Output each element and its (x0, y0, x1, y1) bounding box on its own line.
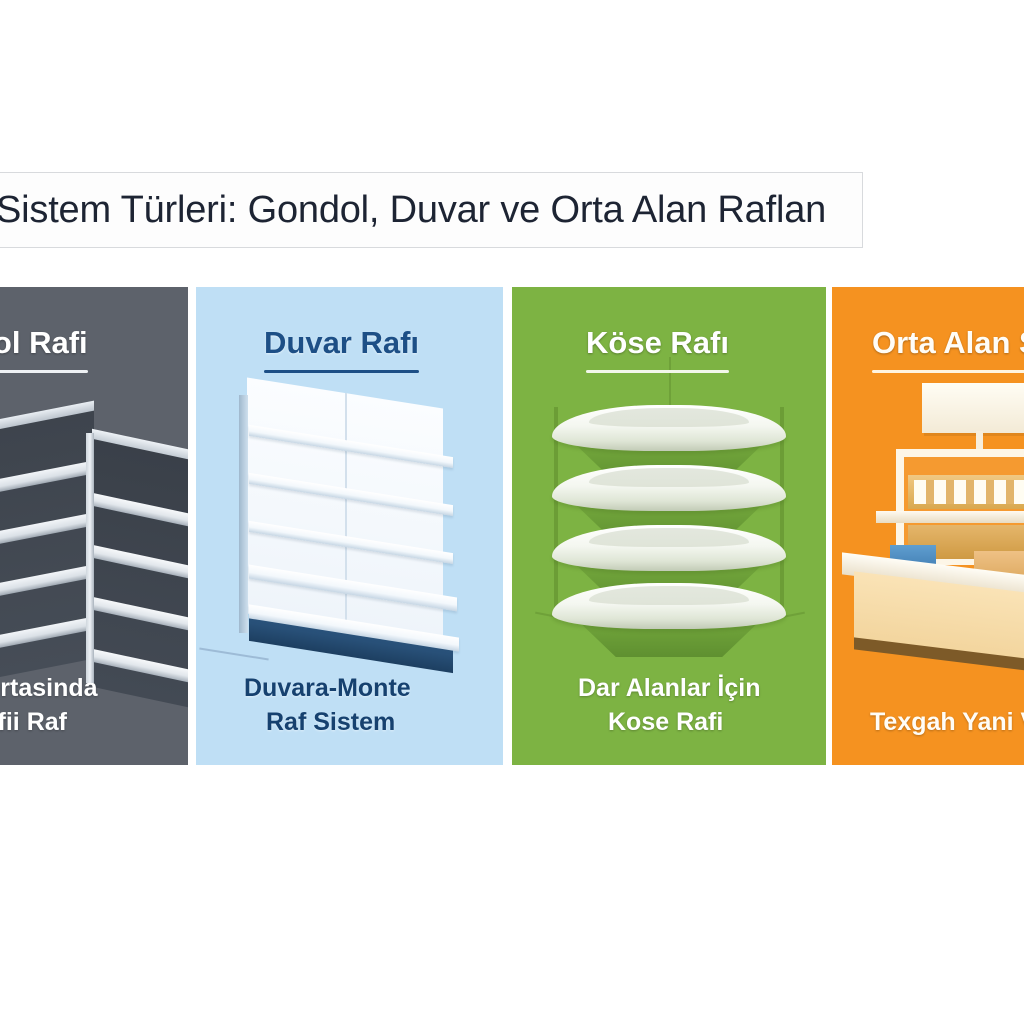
page-title: Sistem Türleri: Gondol, Duvar ve Orta Al… (0, 189, 826, 232)
wall-shelf-illustration (229, 385, 473, 661)
heading-underline (872, 370, 1024, 373)
panel-duvar-caption: Duvara-Monte Raf Sistem (244, 671, 411, 739)
panel-kose-heading: Köse Rafı (586, 325, 729, 373)
panel-orta-alan[interactable]: Orta Alan S Texgah Yani V (832, 287, 1024, 765)
panel-kose-rafi[interactable]: Köse Rafı Dar Alanlar İçin Kose Rafi (512, 287, 826, 765)
panel-gondol-caption: a Ortasinda arafii Raf (0, 671, 98, 739)
title-bar: Sistem Türleri: Gondol, Duvar ve Orta Al… (0, 172, 863, 248)
heading-underline (0, 370, 88, 373)
corner-shelf-illustration (534, 367, 804, 667)
panel-gondol-heading: dol Rafi (0, 325, 88, 373)
panel-orta-heading: Orta Alan S (872, 325, 1024, 373)
heading-underline (586, 370, 729, 373)
panel-kose-caption: Dar Alanlar İçin Kose Rafi (578, 671, 760, 739)
heading-underline (264, 370, 419, 373)
gondola-shelf-illustration (0, 411, 176, 701)
panel-duvar-heading: Duvar Rafı (264, 325, 419, 373)
panel-orta-caption: Texgah Yani V (870, 705, 1024, 739)
infographic-canvas: Sistem Türleri: Gondol, Duvar ve Orta Al… (0, 0, 1024, 1024)
panel-gondol-rafi[interactable]: dol Rafi a Ortasinda arafii Raf (0, 287, 188, 765)
checkout-counter-illustration (842, 383, 1024, 663)
panel-duvar-rafi[interactable]: Duvar Rafı Duvara-Monte Raf Sistem (196, 287, 503, 765)
